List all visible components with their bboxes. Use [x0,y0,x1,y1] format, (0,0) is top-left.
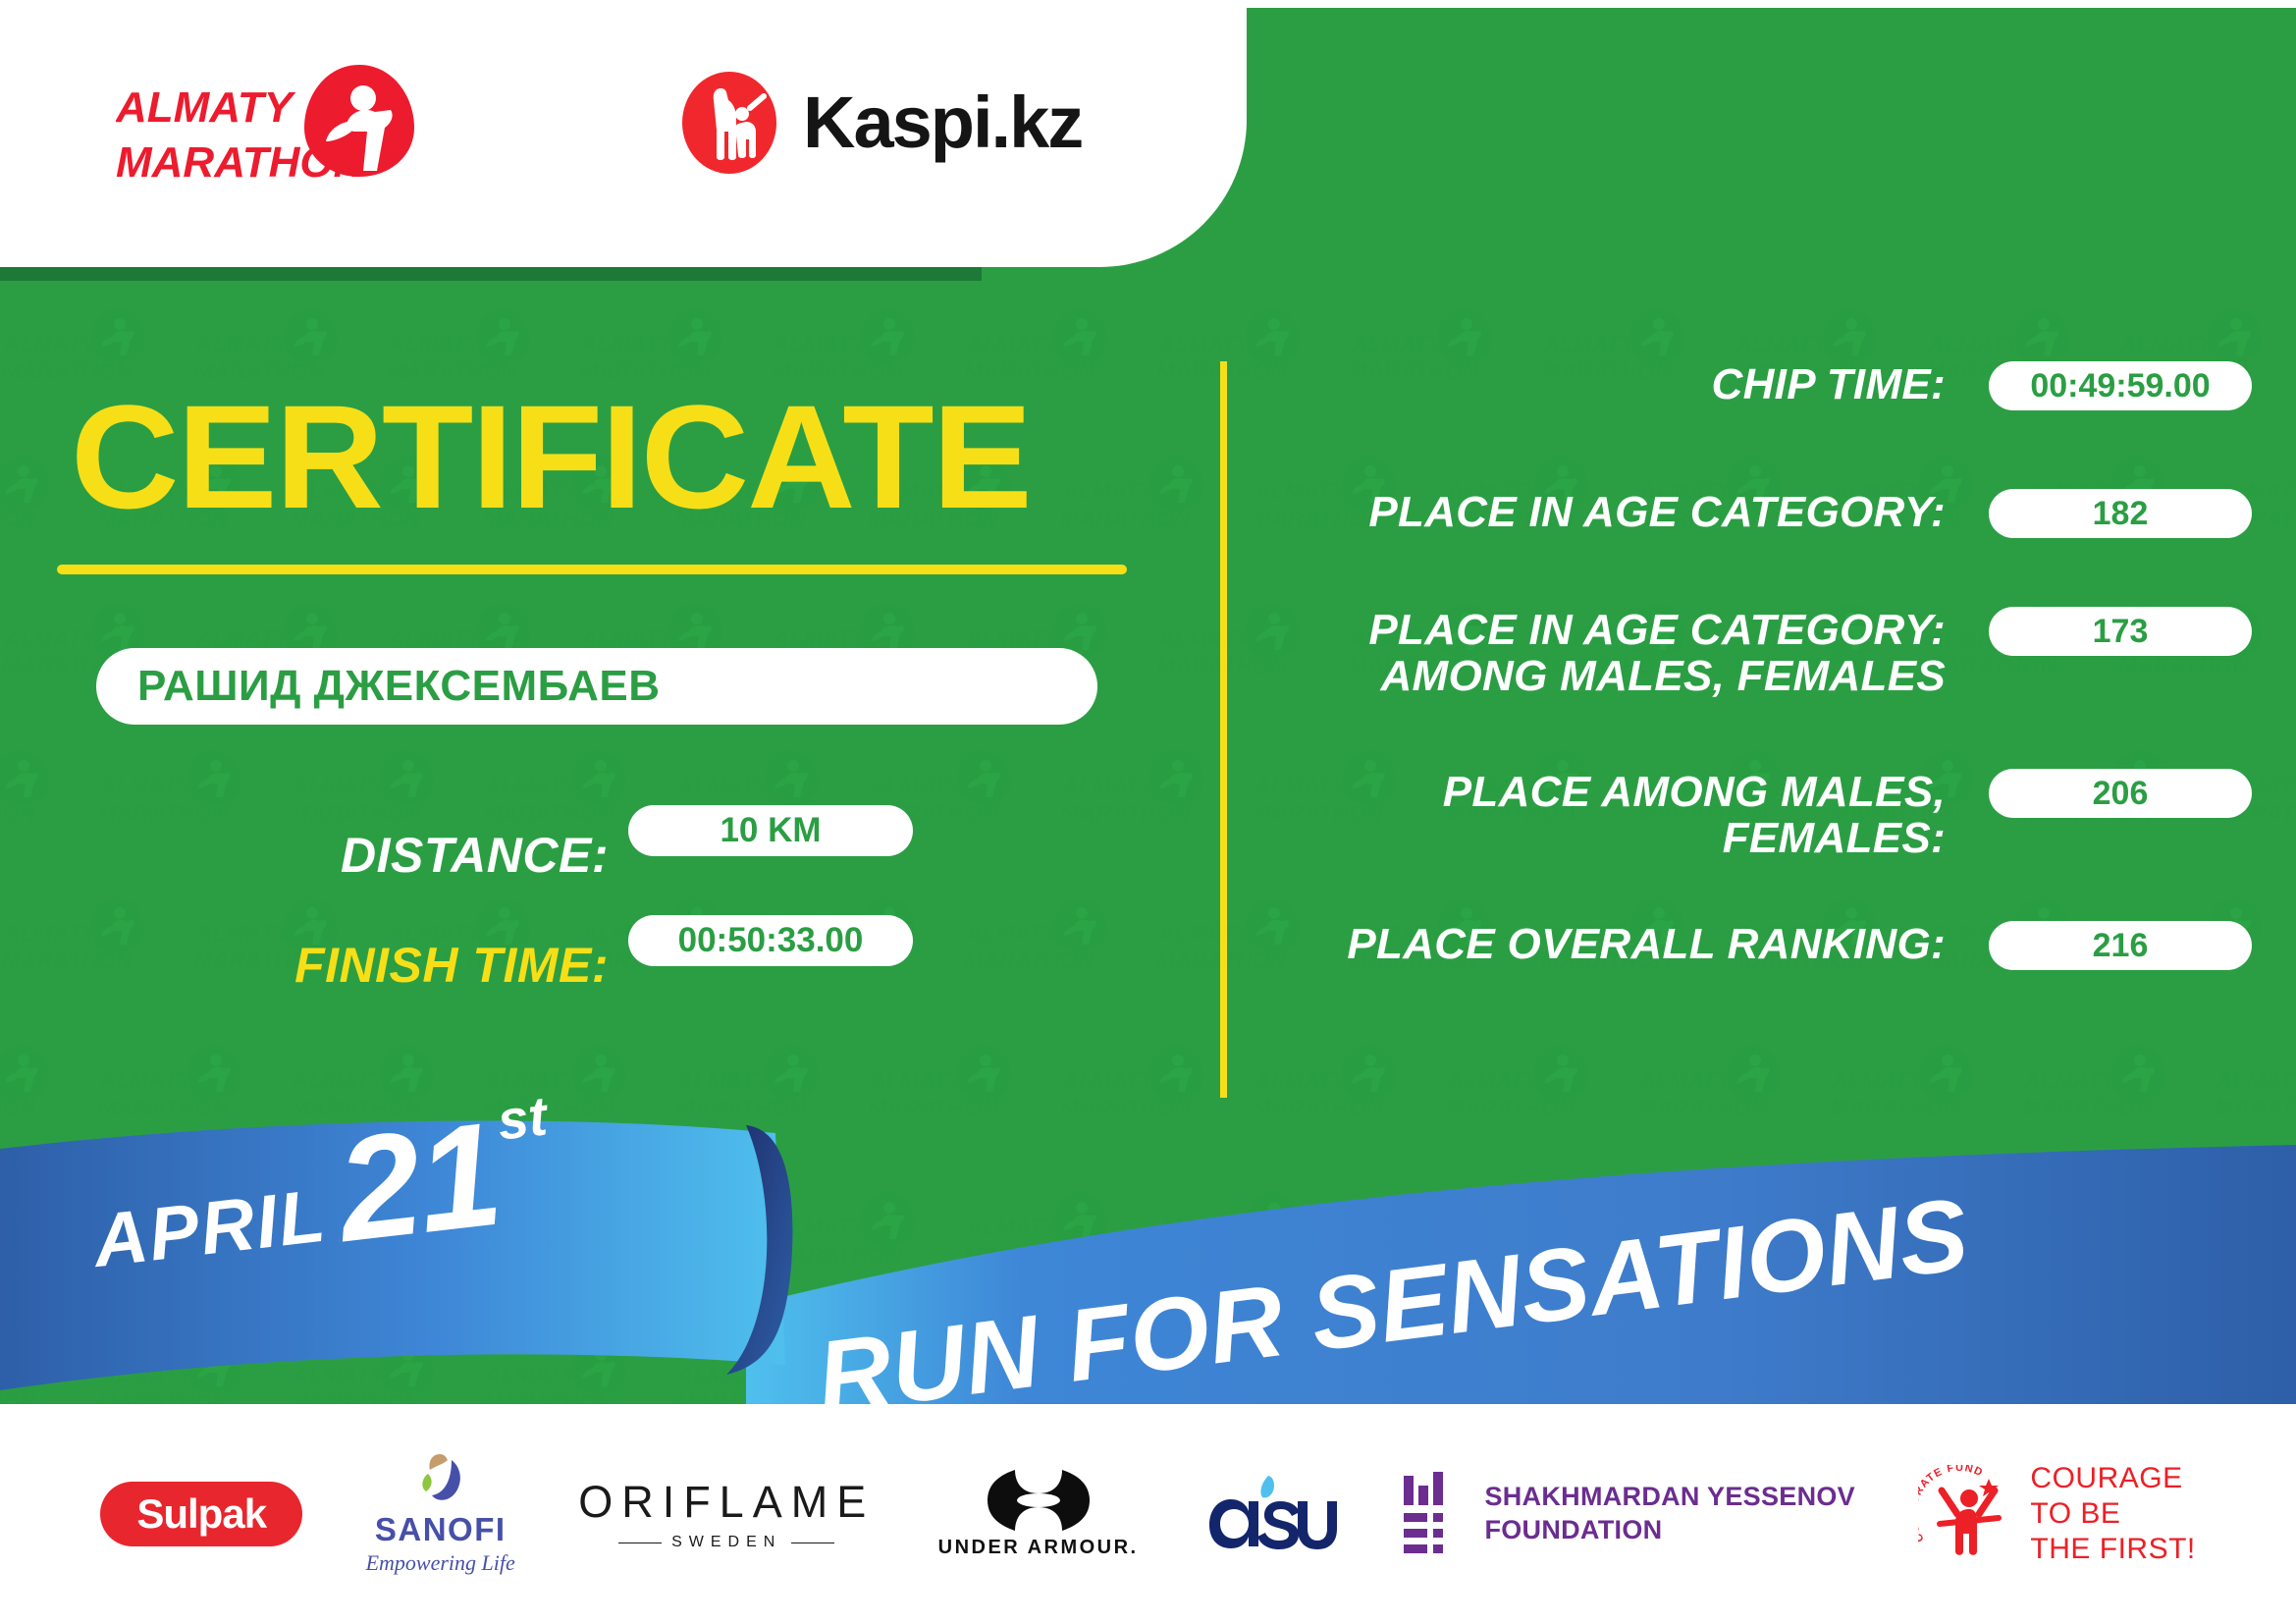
svg-text:ALMATY: ALMATY [773,331,869,356]
event-day: 21 [332,1113,505,1252]
result-label-line: PLACE AMONG MALES, [1266,769,1946,815]
kaspi-mark-icon [677,71,781,175]
svg-text:ALMATY: ALMATY [1061,478,1157,504]
sulpak-logo: Sulpak [100,1482,302,1546]
result-row: CHIP TIME: 00:49:59.00 [1266,361,2258,407]
courage-label-1: COURAGE [2030,1461,2195,1496]
result-value-pill: 216 [1989,921,2252,970]
svg-text:MARATHON: MARATHON [116,138,366,187]
field-value-pill: 10 KM [628,805,913,856]
svg-text:ALMATY: ALMATY [1350,331,1446,356]
result-row: PLACE IN AGE CATEGORY: 182 [1266,489,2258,535]
oriflame-tagline: SWEDEN [671,1534,781,1551]
result-value: 173 [2093,613,2149,651]
result-row: PLACE AMONG MALES,FEMALES: 206 [1266,769,2258,861]
oriflame-label: ORIFLAME [578,1477,875,1528]
sanofi-tagline: Empowering Life [366,1550,515,1576]
svg-text:ALMATY: ALMATY [3,625,99,651]
svg-text:ALMATY: ALMATY [1542,331,1638,356]
svg-text:ALMATY: ALMATY [3,331,99,356]
svg-text:ALMATY: ALMATY [1927,331,2023,356]
result-label: PLACE IN AGE CATEGORY: [1266,489,1971,535]
courage-fund-mark-icon: CORPORATE FUND [1918,1465,2016,1563]
certificate-root: ALMATY MARATHON ALMATY MARATHON ALMATY M… [0,0,2296,1624]
page-title: CERTIFICATE [71,383,1031,530]
kaspi-wordmark: Kaspi.kz [803,86,1082,159]
sponsor-oriflame: ORIFLAME SWEDEN [578,1477,875,1551]
under-armour-label: UNDER ARMOUR. [938,1537,1139,1559]
certificate-field-row: FINISH TIME: 00:50:33.00 [0,886,1207,996]
under-armour-mark-icon [986,1470,1092,1531]
left-fields-list: DISTANCE: 10 KM FINISH TIME: 00:50:33.00 [0,776,1207,996]
result-row: PLACE IN AGE CATEGORY:AMONG MALES, FEMAL… [1266,607,2258,699]
yessenov-label-2: FOUNDATION [1484,1514,1855,1547]
svg-text:MARATHON: MARATHON [1060,506,1191,531]
result-label-line: PLACE IN AGE CATEGORY: [1266,607,1946,653]
event-day-ordinal: st [495,1088,550,1148]
field-value: 00:50:33.00 [678,921,864,960]
sulpak-label: Sulpak [136,1490,266,1538]
vertical-divider [1220,361,1227,1098]
field-value-pill: 00:50:33.00 [628,915,913,966]
svg-text:ALMATY: ALMATY [1157,331,1254,356]
sponsor-sanofi: SANOFI Empowering Life [366,1452,515,1576]
oriflame-rule-right [791,1543,834,1543]
svg-text:ALMATY: ALMATY [116,83,296,132]
result-value: 206 [2093,775,2149,813]
result-label: PLACE AMONG MALES,FEMALES: [1266,769,1971,861]
certificate-field-row: DISTANCE: 10 KM [0,776,1207,886]
result-label-line: PLACE OVERALL RANKING: [1266,921,1946,967]
result-label-line: AMONG MALES, FEMALES [1266,653,1946,699]
svg-text:ALMATY: ALMATY [1735,331,1831,356]
kaspi-logo: Kaspi.kz [677,71,1082,175]
result-value-pill: 00:49:59.00 [1989,361,2252,410]
result-value-pill: 182 [1989,489,2252,538]
result-label-line: PLACE IN AGE CATEGORY: [1266,489,1946,535]
participant-name-field: РАШИД ДЖЕКСЕМБАЕВ [96,648,1097,725]
almaty-marathon-logo: ALMATY MARATHON [116,57,430,194]
result-row: PLACE OVERALL RANKING: 216 [1266,921,2258,967]
result-value: 182 [2093,495,2149,533]
result-value: 216 [2093,927,2149,965]
sponsor-sulpak: Sulpak [100,1482,302,1546]
field-value: 10 KM [720,811,821,850]
svg-text:ALMATY: ALMATY [2119,331,2216,356]
result-label: PLACE OVERALL RANKING: [1266,921,1971,967]
sanofi-label: SANOFI [375,1511,507,1548]
result-label: CHIP TIME: [1266,361,1971,407]
participant-name: РАШИД ДЖЕКСЕМБАЕВ [137,662,661,711]
svg-text:ALMATY: ALMATY [580,331,676,356]
field-label: DISTANCE: [0,831,609,880]
result-label: PLACE IN AGE CATEGORY:AMONG MALES, FEMAL… [1266,607,1971,699]
result-value-pill: 173 [1989,607,2252,656]
result-value-pill: 206 [1989,769,2252,818]
sponsor-under-armour: UNDER ARMOUR. [938,1470,1139,1559]
svg-text:ALMATY: ALMATY [1157,625,1254,651]
result-label-line: FEMALES: [1266,815,1946,861]
courage-label-3: THE FIRST! [2030,1532,2195,1567]
svg-text:ALMATY: ALMATY [388,331,484,356]
result-label-line: CHIP TIME: [1266,361,1946,407]
field-label: FINISH TIME: [0,941,609,990]
svg-text:ALMATY: ALMATY [195,331,292,356]
svg-text:ALMATY: ALMATY [965,331,1061,356]
yessenov-mark-icon [1402,1472,1459,1556]
courage-fund-label-block: COURAGE TO BE THE FIRST! [2030,1461,2195,1567]
yessenov-label-block: SHAKHMARDAN YESSENOV FOUNDATION [1484,1481,1855,1547]
yessenov-label-1: SHAKHMARDAN YESSENOV [1484,1481,1855,1514]
header-top-edge [0,0,2296,8]
title-underline [57,565,1127,574]
result-value: 00:49:59.00 [2030,367,2210,406]
sponsor-yessenov: SHAKHMARDAN YESSENOV FOUNDATION [1402,1472,1855,1556]
sponsor-courage-fund: CORPORATE FUND COURAGE TO BE THE FIRST! [1918,1461,2195,1567]
sanofi-mark-icon [410,1452,471,1509]
courage-label-2: TO BE [2030,1496,2195,1532]
svg-text:ALMATY: ALMATY [0,478,3,504]
sponsor-bar: Sulpak SANOFI Empowering Life ORIFLAME S… [0,1404,2296,1624]
oriflame-rule-left [618,1543,662,1543]
sponsor-asu [1201,1472,1339,1556]
svg-text:MARATHON: MARATHON [0,506,36,531]
oriflame-sub: SWEDEN [578,1534,875,1551]
asu-logo-icon [1201,1472,1339,1556]
